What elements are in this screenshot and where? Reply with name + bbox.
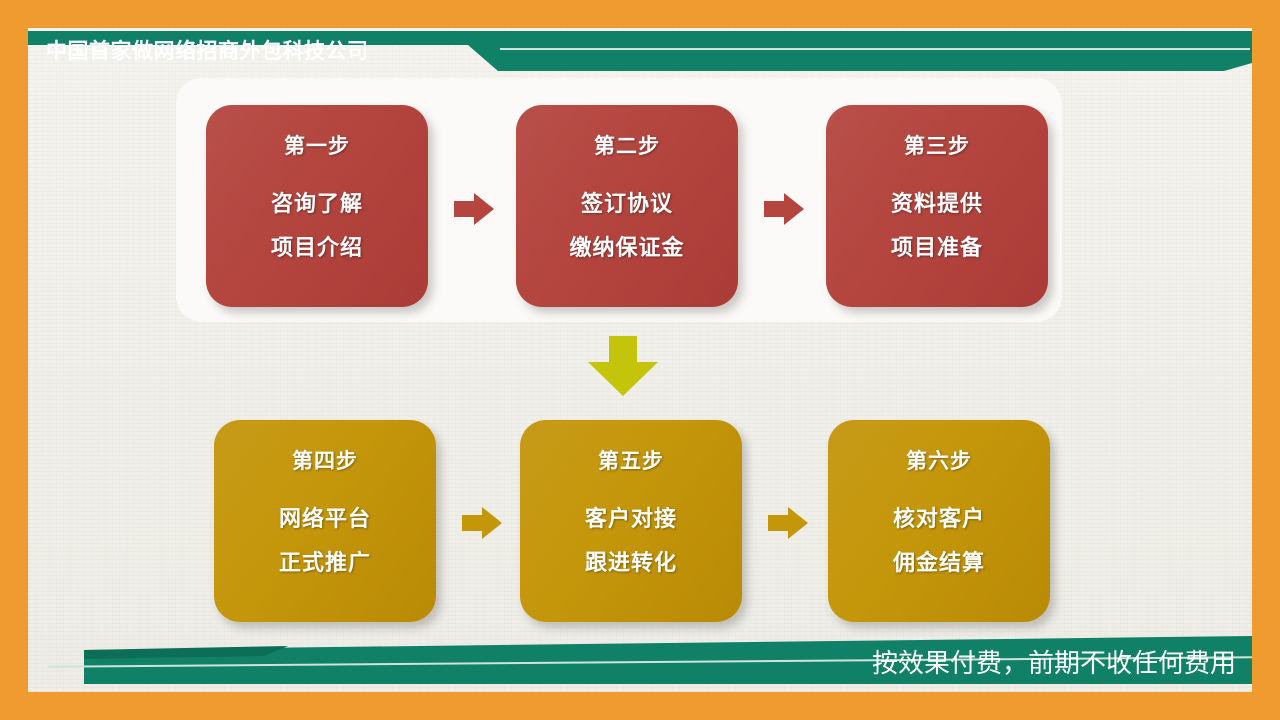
step-5-body: 客户对接 跟进转化 [585,501,677,577]
step-4-line-2: 正式推广 [279,545,371,577]
arrow-right-glyph [460,504,504,542]
step-card-5[interactable]: 第五步 客户对接 跟进转化 [520,420,742,622]
arrow-right-icon-1-to-2 [452,190,496,228]
step-card-4[interactable]: 第四步 网络平台 正式推广 [214,420,436,622]
arrow-right-icon-5-to-6 [766,504,810,542]
step-5-title: 第五步 [598,445,664,475]
step-4-body: 网络平台 正式推广 [279,501,371,577]
arrow-right-glyph [762,190,806,228]
slide-canvas: 中国首家做网络招商外包科技公司 第一步 咨询了解 项目介绍 第二步 签订协议 缴… [0,0,1280,720]
step-card-1[interactable]: 第一步 咨询了解 项目介绍 [206,105,428,307]
step-6-line-1: 核对客户 [893,501,985,533]
step-6-body: 核对客户 佣金结算 [893,501,985,577]
step-1-line-1: 咨询了解 [271,186,363,218]
step-5-line-1: 客户对接 [585,501,677,533]
step-3-line-2: 项目准备 [891,230,983,262]
arrow-right-icon-4-to-5 [460,504,504,542]
step-5-line-2: 跟进转化 [585,545,677,577]
step-2-line-2: 缴纳保证金 [569,230,684,262]
step-2-line-1: 签订协议 [581,186,673,218]
arrow-down-icon-row1-to-row2 [586,336,660,398]
arrow-right-glyph [452,190,496,228]
step-card-3[interactable]: 第三步 资料提供 项目准备 [826,105,1048,307]
step-card-2[interactable]: 第二步 签订协议 缴纳保证金 [516,105,738,307]
step-6-title: 第六步 [906,445,972,475]
step-card-6[interactable]: 第六步 核对客户 佣金结算 [828,420,1050,622]
step-1-title: 第一步 [284,130,350,160]
step-3-line-1: 资料提供 [891,186,983,218]
footer-tagline: 按效果付费，前期不收任何费用 [872,645,1236,681]
step-2-title: 第二步 [594,130,660,160]
page-title: 中国首家做网络招商外包科技公司 [46,36,369,68]
arrow-right-icon-2-to-3 [762,190,806,228]
arrow-down-glyph [586,336,660,398]
step-4-title: 第四步 [292,445,358,475]
step-1-line-2: 项目介绍 [271,230,363,262]
arrow-right-glyph [766,504,810,542]
step-4-line-1: 网络平台 [279,501,371,533]
step-1-body: 咨询了解 项目介绍 [271,186,363,262]
step-3-body: 资料提供 项目准备 [891,186,983,262]
step-6-line-2: 佣金结算 [893,545,985,577]
step-2-body: 签订协议 缴纳保证金 [569,186,684,262]
step-3-title: 第三步 [904,130,970,160]
